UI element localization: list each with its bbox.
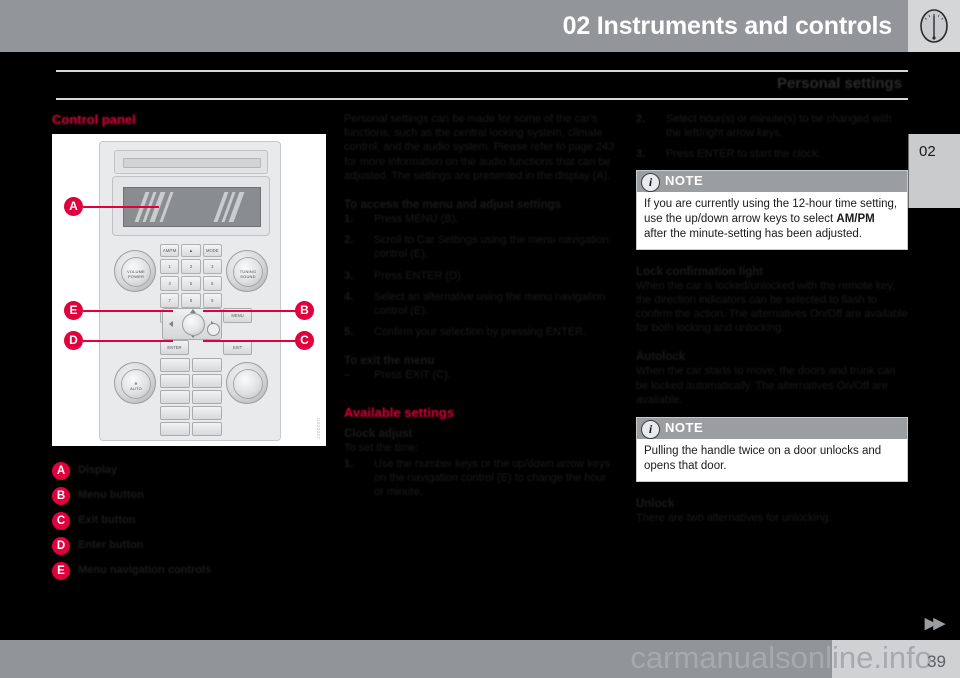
step-number: 2. <box>344 233 353 247</box>
leader-d <box>83 340 173 342</box>
page-number: 39 <box>927 652 946 672</box>
key-up[interactable]: ▲ <box>181 244 200 257</box>
access-menu-heading: To access the menu and adjust settings <box>344 199 616 211</box>
legend-key-a: A <box>52 462 70 480</box>
note-text-after: after the minute-setting has been adjust… <box>644 228 862 240</box>
list-item: 1. Use the number keys or the up/down ar… <box>344 457 616 500</box>
key-9[interactable]: 9 <box>203 293 222 308</box>
callout-c: C <box>295 331 314 350</box>
legend-label-d: Enter button <box>78 539 143 551</box>
recirculation-button[interactable] <box>160 358 190 372</box>
step-text: Press EXIT (C). <box>374 369 451 381</box>
legend-item-d: D Enter button <box>52 537 324 562</box>
site-watermark: carmanualsonline.info <box>630 640 932 676</box>
unlock-heading: Unlock <box>636 498 908 510</box>
step-number: 4. <box>344 290 353 304</box>
note-header: i NOTE <box>637 171 907 192</box>
section-title: Personal settings <box>777 75 902 92</box>
note-box-clock: i NOTE If you are currently using the 12… <box>636 170 908 250</box>
callout-e: E <box>64 301 83 320</box>
column-right: 2. Select hour(s) or minute(s) to be cha… <box>636 112 908 535</box>
legend-item-c: C Exit button <box>52 512 324 537</box>
temp-right-button[interactable] <box>192 406 222 420</box>
note-body: If you are currently using the 12-hour t… <box>637 192 907 249</box>
seat-heat-left-button[interactable] <box>160 390 190 404</box>
note-text-bold: AM/PM <box>836 213 874 225</box>
clock-steps-continued: 2. Select hour(s) or minute(s) to be cha… <box>636 112 908 162</box>
step-text: Press ENTER (D). <box>374 270 464 282</box>
key-3[interactable]: 3 <box>203 259 222 274</box>
list-item: – Press EXIT (C). <box>344 368 616 382</box>
exit-button[interactable]: EXIT <box>223 340 252 355</box>
figure-legend: A Display B Menu button C Exit button D … <box>52 462 324 587</box>
chapter-tab: 02 <box>908 134 960 208</box>
note-title: NOTE <box>665 420 703 435</box>
note-text-before: Pulling the handle twice on a door unloc… <box>644 445 881 472</box>
legend-label-e: Menu navigation controls <box>78 564 211 576</box>
legend-label-c: Exit button <box>78 514 135 526</box>
control-panel-heading: Control panel <box>52 112 324 127</box>
menu-navigation-control[interactable] <box>162 308 222 340</box>
lock-confirmation-heading: Lock confirmation light <box>636 266 908 278</box>
step-number: 1. <box>344 212 353 226</box>
key-5[interactable]: 5 <box>181 276 200 291</box>
volume-power-knob[interactable]: VOLUMEPOWER <box>114 250 156 292</box>
list-item: 3. Press ENTER (D). <box>344 269 616 283</box>
exit-menu-heading: To exit the menu <box>344 355 616 367</box>
header-icon-box <box>908 0 960 52</box>
note-header: i NOTE <box>637 418 907 439</box>
key-8[interactable]: 8 <box>181 293 200 308</box>
legend-label-a: Display <box>78 464 117 476</box>
list-item: 5. Confirm your selection by pressing EN… <box>344 325 616 339</box>
enter-button[interactable]: ENTER <box>160 340 189 355</box>
legend-item-a: A Display <box>52 462 324 487</box>
note-box-handle: i NOTE Pulling the handle twice on a doo… <box>636 417 908 482</box>
next-page-arrow-icon: ▶▶ <box>925 614 942 632</box>
step-number: 3. <box>636 147 645 161</box>
available-settings-heading: Available settings <box>344 405 616 420</box>
step-text: Select hour(s) or minute(s) to be change… <box>666 113 892 139</box>
climate-row-4 <box>160 406 222 420</box>
tuning-sound-knob[interactable]: TUNINGSOUND <box>226 250 268 292</box>
info-icon: i <box>641 420 660 439</box>
key-6[interactable]: 6 <box>203 276 222 291</box>
intro-paragraph: Personal settings can be made for some o… <box>344 112 616 183</box>
info-icon: i <box>641 173 660 192</box>
leader-b <box>203 310 299 312</box>
step-text: Scroll to Car Settings using the menu na… <box>374 234 609 260</box>
legend-key-b: B <box>52 487 70 505</box>
key-amfm[interactable]: AM/FM <box>160 244 179 257</box>
cd-slot <box>123 158 261 168</box>
climate-row-1 <box>160 358 222 372</box>
step-number: 3. <box>344 269 353 283</box>
figure-id: G020307 <box>316 418 321 439</box>
access-steps-list: 1. Press MENU (B). 2. Scroll to Car Sett… <box>344 212 616 339</box>
air-distribution-knob[interactable] <box>226 362 268 404</box>
leader-a <box>83 206 159 208</box>
legend-key-c: C <box>52 512 70 530</box>
manual-page: 02 Instruments and controls 02 Personal … <box>0 0 960 678</box>
callout-a: A <box>64 197 83 216</box>
step-number: – <box>344 368 350 382</box>
seat-heat-right-button[interactable] <box>192 390 222 404</box>
column-left: Control panel <box>52 112 324 135</box>
step-text: Press ENTER to start the clock. <box>666 148 821 160</box>
legend-label-b: Menu button <box>78 489 144 501</box>
cd-slot-frame <box>114 150 268 174</box>
climate-row-3 <box>160 390 222 404</box>
nav-left-arrow-icon[interactable] <box>169 321 173 327</box>
column-middle: Personal settings can be made for some o… <box>344 112 616 507</box>
clock-intro: To set the time: <box>344 441 616 455</box>
callout-b: B <box>295 301 314 320</box>
step-number: 1. <box>344 457 353 471</box>
key-7[interactable]: 7 <box>160 293 179 308</box>
list-item: 2. Scroll to Car Settings using the menu… <box>344 233 616 261</box>
chapter-title: 02 Instruments and controls <box>563 12 892 41</box>
control-panel-figure: VOLUMEPOWER TUNINGSOUND ❄AUTO AM/FM ▲ M <box>52 134 326 446</box>
page-header: 02 Instruments and controls <box>0 0 908 52</box>
section-title-band: Personal settings <box>56 70 908 100</box>
key-2[interactable]: 2 <box>181 259 200 274</box>
list-item: 1. Press MENU (B). <box>344 212 616 226</box>
gauge-icon <box>917 7 951 45</box>
list-item: 3. Press ENTER to start the clock. <box>636 147 908 161</box>
chapter-tab-number: 02 <box>919 143 936 160</box>
blower-left-button[interactable] <box>160 422 190 436</box>
autolock-text: When the car starts to move, the doors a… <box>636 364 908 407</box>
key-mode[interactable]: MODE <box>203 244 222 257</box>
clock-adjust-heading: Clock adjust <box>344 428 616 440</box>
step-text: Press MENU (B). <box>374 213 458 225</box>
list-item: 4. Select an alternative using the menu … <box>344 290 616 318</box>
step-text: Select an alternative using the menu nav… <box>374 291 605 317</box>
leader-e <box>83 310 173 312</box>
note-title: NOTE <box>665 173 703 188</box>
climate-row-5 <box>160 422 222 436</box>
leader-c <box>203 340 299 342</box>
key-1[interactable]: 1 <box>160 259 179 274</box>
rear-defroster-button[interactable] <box>160 374 190 388</box>
key-4[interactable]: 4 <box>160 276 179 291</box>
legend-item-e: E Menu navigation controls <box>52 562 324 587</box>
blower-right-button[interactable] <box>192 422 222 436</box>
nav-disc[interactable] <box>182 313 205 336</box>
step-number: 5. <box>344 325 353 339</box>
list-item: 2. Select hour(s) or minute(s) to be cha… <box>636 112 908 140</box>
ac-button[interactable] <box>192 358 222 372</box>
note-body: Pulling the handle twice on a door unloc… <box>637 439 907 481</box>
lock-confirmation-text: When the car is locked/unlocked with the… <box>636 279 908 336</box>
max-defroster-button[interactable] <box>192 374 222 388</box>
fan-auto-knob[interactable]: ❄AUTO <box>114 362 156 404</box>
center-console: VOLUMEPOWER TUNINGSOUND ❄AUTO AM/FM ▲ M <box>99 141 281 441</box>
autolock-heading: Autolock <box>636 351 908 363</box>
step-number: 2. <box>636 112 645 126</box>
unlock-text: There are two alternatives for unlocking… <box>636 511 908 525</box>
step-text: Use the number keys or the up/down arrow… <box>374 458 610 498</box>
exit-step-list: – Press EXIT (C). <box>344 368 616 382</box>
legend-item-b: B Menu button <box>52 487 324 512</box>
callout-d: D <box>64 331 83 350</box>
step-text: Confirm your selection by pressing ENTER… <box>374 326 586 338</box>
temp-left-button[interactable] <box>160 406 190 420</box>
climate-row-2 <box>160 374 222 388</box>
legend-key-e: E <box>52 562 70 580</box>
clock-steps-list: 1. Use the number keys or the up/down ar… <box>344 457 616 500</box>
legend-key-d: D <box>52 537 70 555</box>
